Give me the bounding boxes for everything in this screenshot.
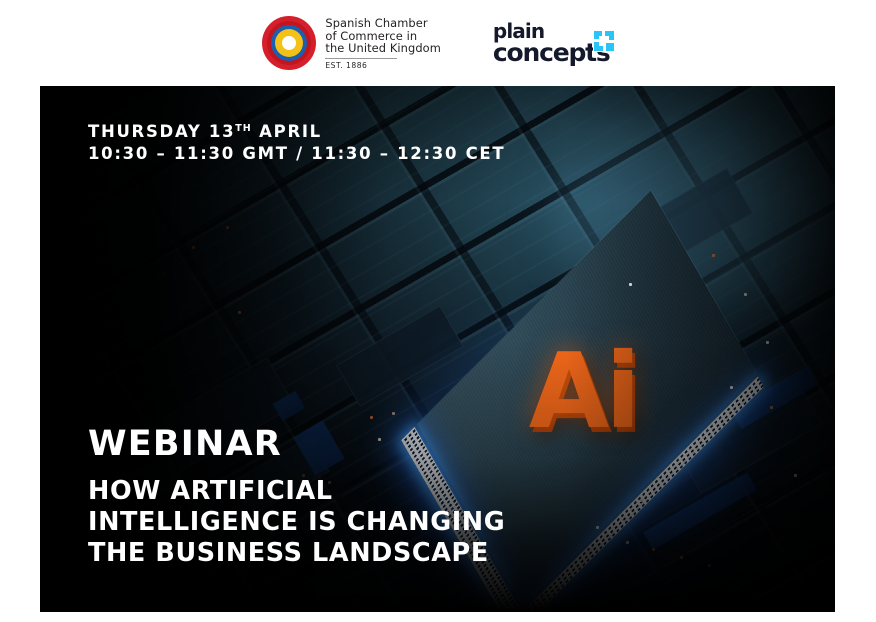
event-date-text: THURSDAY 13 bbox=[88, 122, 235, 141]
webinar-subtitle-line-3: THE BUSINESS LANDSCAPE bbox=[88, 538, 505, 569]
webinar-title-block: WEBINAR HOW ARTIFICIAL INTELLIGENCE IS C… bbox=[88, 424, 505, 569]
date-ordinal-suffix: TH bbox=[235, 123, 251, 134]
logo-bar: Spanish Chamber of Commerce in the Unite… bbox=[0, 0, 876, 86]
chamber-name-line-3: the United Kingdom bbox=[325, 42, 441, 55]
webinar-subtitle-line-1: HOW ARTIFICIAL bbox=[88, 476, 505, 507]
webinar-hero-banner: Ai THURSDAY 13TH APRIL 10:30 – 11:30 GMT… bbox=[40, 86, 835, 612]
webinar-subtitle-line-2: INTELLIGENCE IS CHANGING bbox=[88, 507, 505, 538]
webinar-kicker: WEBINAR bbox=[88, 424, 505, 464]
divider bbox=[325, 58, 397, 59]
plain-concepts-logo: plain concepts bbox=[493, 22, 614, 65]
event-date-block: THURSDAY 13TH APRIL 10:30 – 11:30 GMT / … bbox=[88, 118, 505, 165]
spanish-chamber-wordmark: Spanish Chamber of Commerce in the Unite… bbox=[325, 16, 441, 70]
event-month-text: APRIL bbox=[252, 122, 322, 141]
concentric-rings-logo-icon bbox=[262, 16, 316, 70]
event-time-line: 10:30 – 11:30 GMT / 11:30 – 12:30 CET bbox=[88, 143, 505, 165]
chamber-established-text: EST. 1886 bbox=[325, 61, 441, 70]
webinar-subtitle: HOW ARTIFICIAL INTELLIGENCE IS CHANGING … bbox=[88, 476, 505, 569]
cyan-bracket-icon bbox=[593, 30, 615, 52]
chamber-name-line-1: Spanish Chamber bbox=[325, 17, 441, 30]
spanish-chamber-logo: Spanish Chamber of Commerce in the Unite… bbox=[262, 16, 441, 70]
event-date-line: THURSDAY 13TH APRIL bbox=[88, 118, 505, 143]
